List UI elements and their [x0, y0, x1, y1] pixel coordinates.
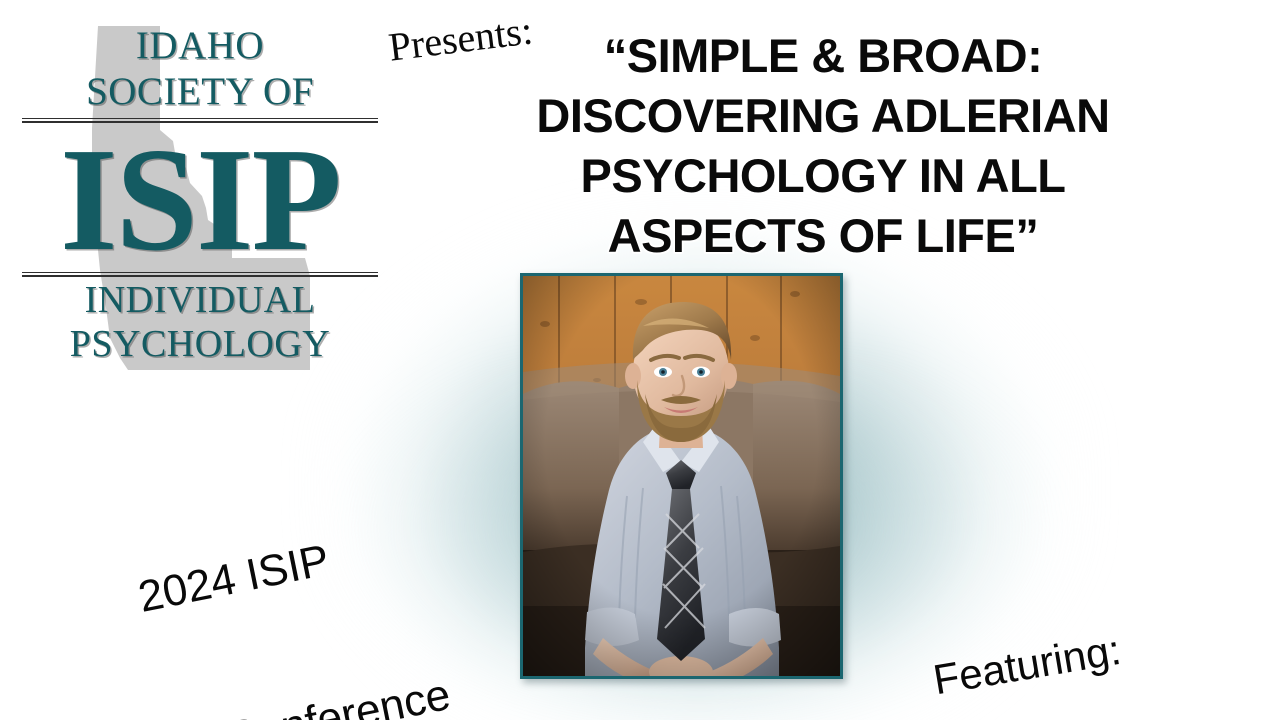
featuring-label: Featuring:: [826, 606, 1229, 720]
speaker-portrait: [520, 273, 843, 679]
logo-line-isip: ISIP: [10, 126, 390, 274]
title-line-1: “SIMPLE & BROAD:: [470, 26, 1176, 86]
logo-line-society-of: SOCIETY OF: [10, 70, 390, 114]
conference-caption: 2024 ISIP Annual Conference Video: [2, 410, 528, 720]
logo-line-idaho: IDAHO: [10, 24, 390, 68]
logo-rule-bottom: [22, 272, 378, 277]
title-line-4: ASPECTS OF LIFE”: [470, 206, 1176, 266]
title-line-3: PSYCHOLOGY IN ALL: [470, 146, 1176, 206]
speaker-portrait-image: [523, 276, 840, 676]
isip-logo: IDAHO SOCIETY OF ISIP INDIVIDUAL PSYCHOL…: [10, 8, 390, 383]
conference-caption-line-2: Annual Conference: [54, 665, 476, 720]
title-line-2: DISCOVERING ADLERIAN: [470, 86, 1176, 146]
title-card-slide: IDAHO SOCIETY OF ISIP INDIVIDUAL PSYCHOL…: [0, 0, 1280, 720]
logo-line-individual: INDIVIDUAL: [10, 279, 390, 321]
page-title: “SIMPLE & BROAD: DISCOVERING ADLERIAN PS…: [470, 26, 1176, 266]
isip-logo-wordmark: IDAHO SOCIETY OF ISIP INDIVIDUAL PSYCHOL…: [10, 8, 390, 383]
conference-caption-line-1: 2024 ISIP: [23, 512, 445, 647]
logo-line-psychology: PSYCHOLOGY: [10, 323, 390, 365]
featuring-caption: Featuring: Calvin Armerding: [808, 504, 1271, 720]
